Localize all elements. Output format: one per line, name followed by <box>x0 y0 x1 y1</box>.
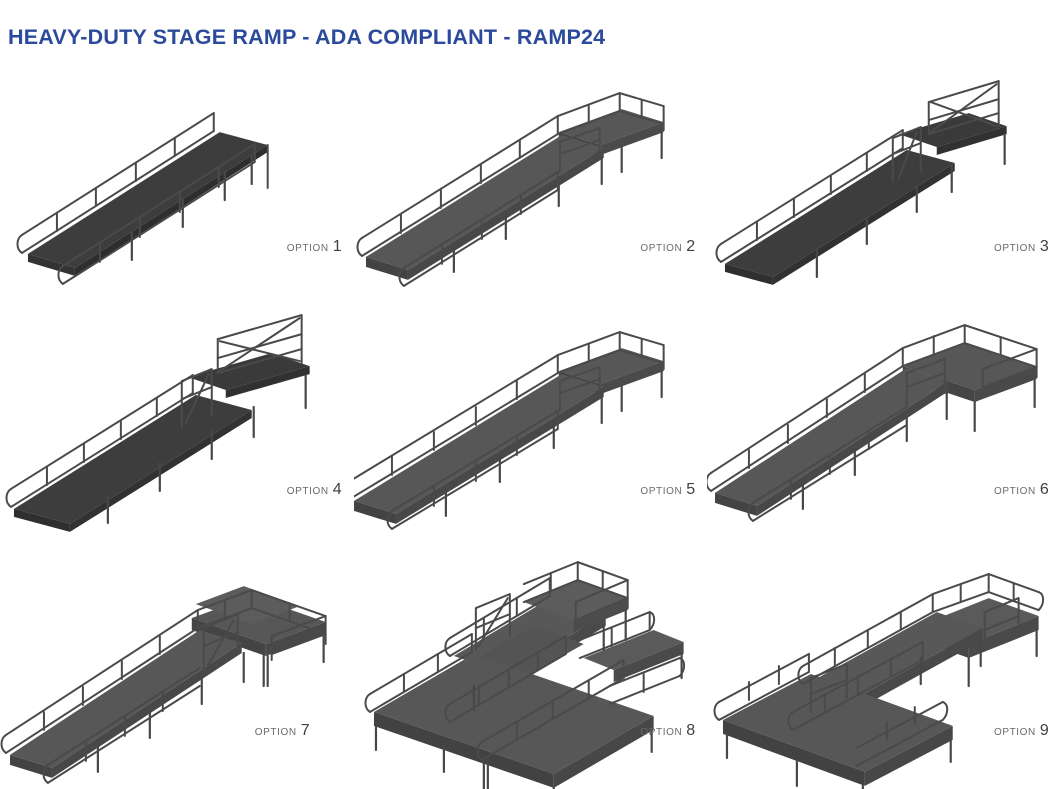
option-label-7: OPTION <box>255 727 297 738</box>
ramp-illustration-6 <box>707 311 1061 550</box>
option-number-5: 5 <box>686 481 695 498</box>
option-caption-2: OPTION2 <box>640 239 695 255</box>
ramp-illustration-2 <box>354 72 708 311</box>
option-label-1: OPTION <box>287 243 329 254</box>
option-cell-9[interactable]: OPTION9 <box>707 550 1061 789</box>
option-number-6: 6 <box>1040 481 1049 498</box>
option-number-8: 8 <box>686 722 695 739</box>
ramp-illustration-4 <box>0 311 354 550</box>
option-caption-3: OPTION3 <box>994 239 1049 255</box>
ramp-illustration-3 <box>707 72 1061 311</box>
option-label-3: OPTION <box>994 243 1036 254</box>
option-caption-6: OPTION6 <box>994 482 1049 498</box>
option-number-9: 9 <box>1040 722 1049 739</box>
ramp-illustration-9 <box>707 550 1061 789</box>
option-caption-4: OPTION4 <box>287 482 342 498</box>
option-number-1: 1 <box>333 238 342 255</box>
option-caption-5: OPTION5 <box>640 482 695 498</box>
option-caption-8: OPTION8 <box>640 723 695 739</box>
option-caption-7: OPTION7 <box>255 723 310 739</box>
option-number-7: 7 <box>301 722 310 739</box>
option-label-5: OPTION <box>640 486 682 497</box>
ramp-illustration-1 <box>0 72 354 311</box>
ramp-illustration-7 <box>0 550 354 789</box>
option-label-4: OPTION <box>287 486 329 497</box>
option-label-9: OPTION <box>994 727 1036 738</box>
option-cell-5[interactable]: OPTION5 <box>354 311 708 550</box>
option-cell-4[interactable]: OPTION4 <box>0 311 354 550</box>
page-title: HEAVY-DUTY STAGE RAMP - ADA COMPLIANT - … <box>8 25 605 50</box>
option-number-2: 2 <box>686 238 695 255</box>
option-cell-7[interactable]: OPTION7 <box>0 550 354 789</box>
option-cell-1[interactable]: OPTION1 <box>0 72 354 311</box>
option-number-3: 3 <box>1040 238 1049 255</box>
option-cell-3[interactable]: OPTION3 <box>707 72 1061 311</box>
option-caption-1: OPTION1 <box>287 239 342 255</box>
option-label-6: OPTION <box>994 486 1036 497</box>
option-label-8: OPTION <box>640 727 682 738</box>
options-grid: OPTION1 <box>0 72 1061 789</box>
option-cell-6[interactable]: OPTION6 <box>707 311 1061 550</box>
option-caption-9: OPTION9 <box>994 723 1049 739</box>
ramp-illustration-8 <box>354 550 708 789</box>
option-cell-2[interactable]: OPTION2 <box>354 72 708 311</box>
ramp-illustration-5 <box>354 311 708 550</box>
option-number-4: 4 <box>333 481 342 498</box>
option-cell-8[interactable]: OPTION8 <box>354 550 708 789</box>
option-label-2: OPTION <box>640 243 682 254</box>
